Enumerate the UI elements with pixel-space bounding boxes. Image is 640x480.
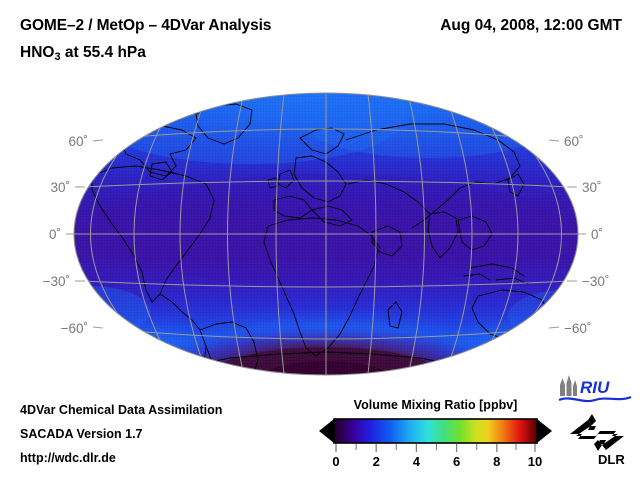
riu-logo: RIU [557,374,633,406]
species-subtitle: HNO3 at 55.4 hPa [20,44,146,62]
colorbar-tick-2: 2 [373,454,380,469]
colorbar-minor-ticks [356,444,516,450]
lat-label-30s-right: −30˚ [582,274,609,289]
footer-version-line: SACADA Version 1.7 [20,427,143,441]
lat-label-30s: −30˚ [43,274,70,289]
lat-label-60s-right: −60˚ [564,321,591,336]
colorbar-over-arrow [537,419,552,443]
dlr-mark-icon [570,414,624,451]
species-name: HNO [20,44,54,61]
species-subscript: 3 [54,51,60,63]
footer-url-line: http://wdc.dlr.de [20,451,116,465]
lat-label-0-right: 0˚ [591,227,603,242]
footer-project-line: 4DVar Chemical Data Assimilation [20,403,222,417]
colorbar-tick-0: 0 [332,454,339,469]
colorbar-title: Volume Mixing Ratio [ppbv] [318,398,553,412]
colorbar: Volume Mixing Ratio [ppbv] [318,398,553,470]
lat-label-30n: 30˚ [50,180,70,195]
page-title: GOME–2 / MetOp – 4DVar Analysis [20,17,271,35]
lat-label-60n: 60˚ [68,134,88,149]
colorbar-tick-10: 10 [528,454,542,469]
riu-swoosh-icon [559,397,631,401]
riu-logo-text: RIU [580,378,610,397]
lat-label-60n-right: 60˚ [564,134,584,149]
lat-label-30n-right: 30˚ [582,180,602,195]
colorbar-tick-8: 8 [493,454,500,469]
dlr-logo: DLR [566,412,628,468]
colorbar-major-ticks [336,444,535,452]
lat-label-60s: −60˚ [61,321,88,336]
colorbar-gradient [334,419,537,443]
timestamp: Aug 04, 2008, 12:00 GMT [440,17,622,35]
colorbar-tick-4: 4 [413,454,421,469]
lat-label-0: 0˚ [49,227,61,242]
colorbar-tick-6: 6 [453,454,460,469]
world-map: 60˚ 30˚ 0˚ −30˚ −60˚ 60˚ 30˚ 0˚ −30˚ −60… [0,80,640,385]
graticule [74,93,578,375]
species-level: at 55.4 hPa [61,44,146,61]
dlr-logo-text: DLR [598,452,625,467]
colorbar-under-arrow [319,419,334,443]
riu-tower-icon [560,375,577,396]
